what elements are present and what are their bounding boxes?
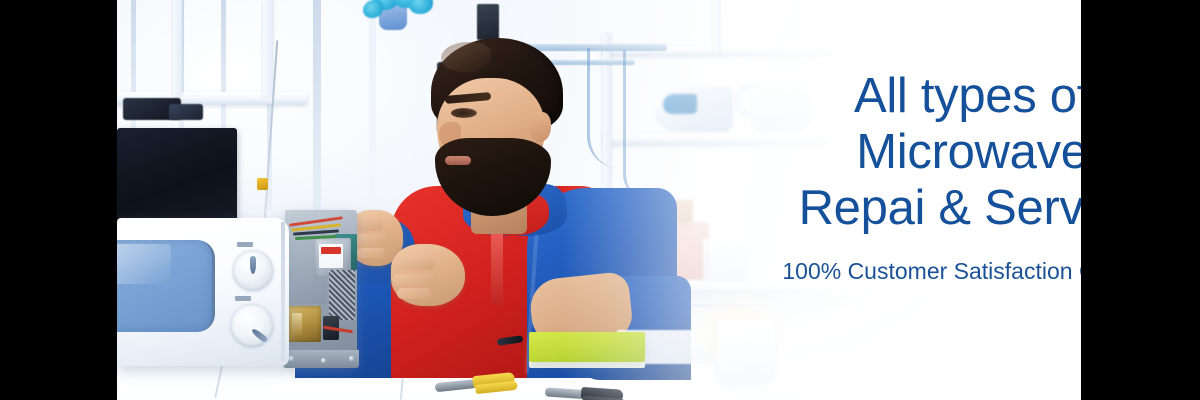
microwave-internals bbox=[285, 210, 357, 366]
dial-pointer bbox=[250, 327, 268, 343]
shelf-post bbox=[173, 0, 182, 96]
microwave-timer-dial[interactable] bbox=[231, 304, 273, 346]
uniform-placket bbox=[491, 224, 503, 306]
promo-copy: All types of Microwave Repai & Service 1… bbox=[737, 68, 1081, 286]
technician-hand-in-microwave bbox=[391, 244, 465, 306]
high-voltage-transformer bbox=[287, 306, 321, 342]
transformer-coil bbox=[292, 313, 302, 335]
finger bbox=[355, 234, 387, 245]
headline-line-3: Repai & Service bbox=[737, 180, 1081, 236]
dial-pointer bbox=[250, 256, 256, 274]
technician-mouth bbox=[445, 156, 471, 165]
finger bbox=[353, 220, 383, 231]
microwave-window-reflection bbox=[117, 244, 171, 284]
hero-photo: All types of Microwave Repai & Service 1… bbox=[117, 0, 1081, 400]
computer-monitor bbox=[117, 128, 237, 228]
microwave-power-dial[interactable] bbox=[233, 250, 273, 290]
subheadline: 100% Customer Satisfaction Guarantee bbox=[763, 256, 1081, 286]
finger bbox=[395, 258, 435, 270]
microwave-oven bbox=[117, 218, 355, 366]
letterbox-bar-left bbox=[0, 0, 117, 400]
microwave-panel-seam bbox=[281, 222, 285, 362]
microwave-dial-marking bbox=[237, 242, 253, 247]
chassis-screw bbox=[349, 356, 354, 361]
finger bbox=[357, 248, 385, 258]
headline-line-2: Microwave bbox=[737, 124, 1081, 180]
magnetron-label bbox=[319, 244, 343, 268]
wall-mounted-box bbox=[477, 4, 499, 40]
finger bbox=[397, 288, 431, 299]
microwave-dial-marking bbox=[235, 296, 251, 301]
technician-eye bbox=[451, 108, 477, 118]
headline-line-1: All types of bbox=[737, 68, 1081, 124]
label-warning-bar bbox=[321, 247, 341, 254]
promo-banner: All types of Microwave Repai & Service 1… bbox=[0, 0, 1200, 400]
shelf-post bbox=[263, 0, 273, 96]
chassis-screw bbox=[289, 356, 294, 361]
shelf-gadget bbox=[169, 104, 203, 120]
finger bbox=[393, 274, 435, 286]
letterbox-bar-right bbox=[1081, 0, 1200, 400]
plier-jaw bbox=[435, 379, 476, 392]
chassis-screw bbox=[321, 358, 326, 363]
screwdriver-handle bbox=[257, 178, 268, 190]
technician-hair-highlight bbox=[441, 42, 491, 72]
ventilation-mesh bbox=[329, 270, 355, 320]
technician-ear bbox=[529, 112, 551, 142]
